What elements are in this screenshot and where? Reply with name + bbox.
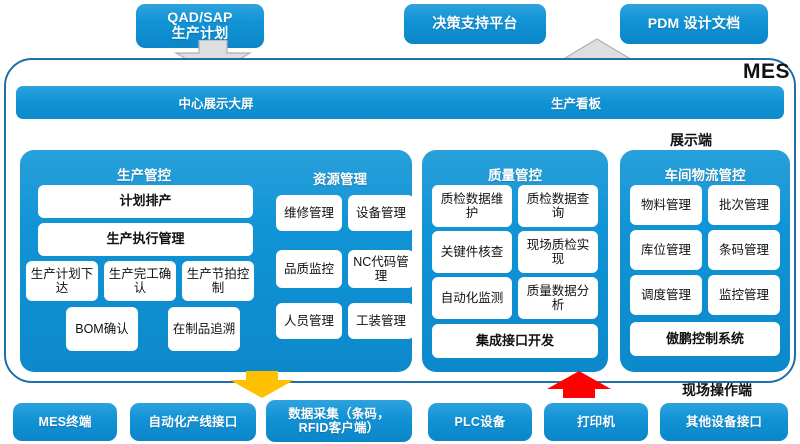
card-resource-3[interactable]: NC代码管理 [348,250,414,288]
card-quality-3[interactable]: 现场质检实现 [518,231,598,273]
card-logistics-3[interactable]: 条码管理 [708,230,780,270]
card-quality-0[interactable]: 质检数据维护 [432,185,512,227]
arrow-down-to-field-icon [228,371,296,399]
bottom-box-plc-device[interactable]: PLC设备 [428,403,532,441]
panel-workshop-logistics: 车间物流管控 物料管理 批次管理 库位管理 条码管理 调度管理 监控管理 傲鹏控… [620,150,790,372]
source-box-pdm-label: PDM 设计文档 [648,16,741,32]
card-production-2[interactable]: 生产计划下达 [26,261,98,301]
bottom-box-data-acquisition[interactable]: 数据采集（条码， RFID客户端） [266,400,412,442]
card-production-3[interactable]: 生产完工确认 [104,261,176,301]
panel-quality-control-title: 质量管控 [422,164,608,184]
card-production-5[interactable]: BOM确认 [66,307,138,351]
card-quality-4[interactable]: 自动化监测 [432,277,512,319]
card-logistics-6[interactable]: 傲鹏控制系统 [630,322,780,356]
card-resource-1[interactable]: 设备管理 [348,195,414,231]
mes-frame-label: MES [743,60,790,84]
source-box-decision-platform[interactable]: 决策支持平台 [404,4,546,44]
card-logistics-4[interactable]: 调度管理 [630,275,702,315]
panel-production-control-title: 生产管控 [20,164,268,184]
arrow-up-to-mes-field-icon [545,371,613,399]
bottom-box-other-device-interface[interactable]: 其他设备接口 [660,403,788,441]
card-resource-5[interactable]: 工装管理 [348,303,414,339]
display-bar-left-label: 中心展示大屏 [106,86,326,119]
display-bar-right-label: 生产看板 [486,86,666,119]
card-quality-6[interactable]: 集成接口开发 [432,324,598,358]
card-logistics-1[interactable]: 批次管理 [708,185,780,225]
bottom-box-automation-line-interface[interactable]: 自动化产线接口 [130,403,256,441]
panel-production-control: 生产管控 资源管理 计划排产 生产执行管理 生产计划下达 生产完工确认 生产节拍… [20,150,412,372]
card-logistics-0[interactable]: 物料管理 [630,185,702,225]
source-box-pdm[interactable]: PDM 设计文档 [620,4,768,44]
card-production-1[interactable]: 生产执行管理 [38,223,253,256]
card-quality-5[interactable]: 质量数据分析 [518,277,598,319]
bottom-box-mes-terminal-label: MES终端 [38,415,91,429]
card-quality-1[interactable]: 质检数据查询 [518,185,598,227]
bottom-box-other-device-interface-label: 其他设备接口 [686,415,762,429]
card-production-0[interactable]: 计划排产 [38,185,253,218]
panel-quality-control: 质量管控 质检数据维护 质检数据查询 关键件核查 现场质检实现 自动化监测 质量… [422,150,608,372]
card-logistics-5[interactable]: 监控管理 [708,275,780,315]
diagram-canvas: QAD/SAP 生产计划 决策支持平台 PDM 设计文档 MES 中心展示大屏 … [0,0,800,444]
panel-resource-management-title: 资源管理 [268,168,412,188]
display-bar[interactable]: 中心展示大屏 生产看板 [16,86,784,119]
caption-display-side: 展示端 [670,130,712,150]
bottom-box-automation-line-interface-label: 自动化产线接口 [149,415,238,429]
bottom-box-data-acquisition-line2: RFID客户端） [299,421,380,435]
caption-field-side: 现场操作端 [682,380,752,400]
panel-workshop-logistics-title: 车间物流管控 [620,164,790,184]
card-production-4[interactable]: 生产节拍控制 [182,261,254,301]
card-resource-2[interactable]: 品质监控 [276,250,342,288]
card-logistics-2[interactable]: 库位管理 [630,230,702,270]
bottom-box-mes-terminal[interactable]: MES终端 [13,403,117,441]
card-quality-2[interactable]: 关键件核查 [432,231,512,273]
source-box-qad-sap-line1: QAD/SAP [167,10,232,26]
source-box-decision-platform-label: 决策支持平台 [432,16,517,32]
bottom-box-plc-device-label: PLC设备 [454,415,505,429]
bottom-box-printer-label: 打印机 [577,415,615,429]
card-resource-0[interactable]: 维修管理 [276,195,342,231]
bottom-box-printer[interactable]: 打印机 [544,403,648,441]
card-production-6[interactable]: 在制品追溯 [168,307,240,351]
bottom-box-data-acquisition-line1: 数据采集（条码， [288,407,390,421]
card-resource-4[interactable]: 人员管理 [276,303,342,339]
